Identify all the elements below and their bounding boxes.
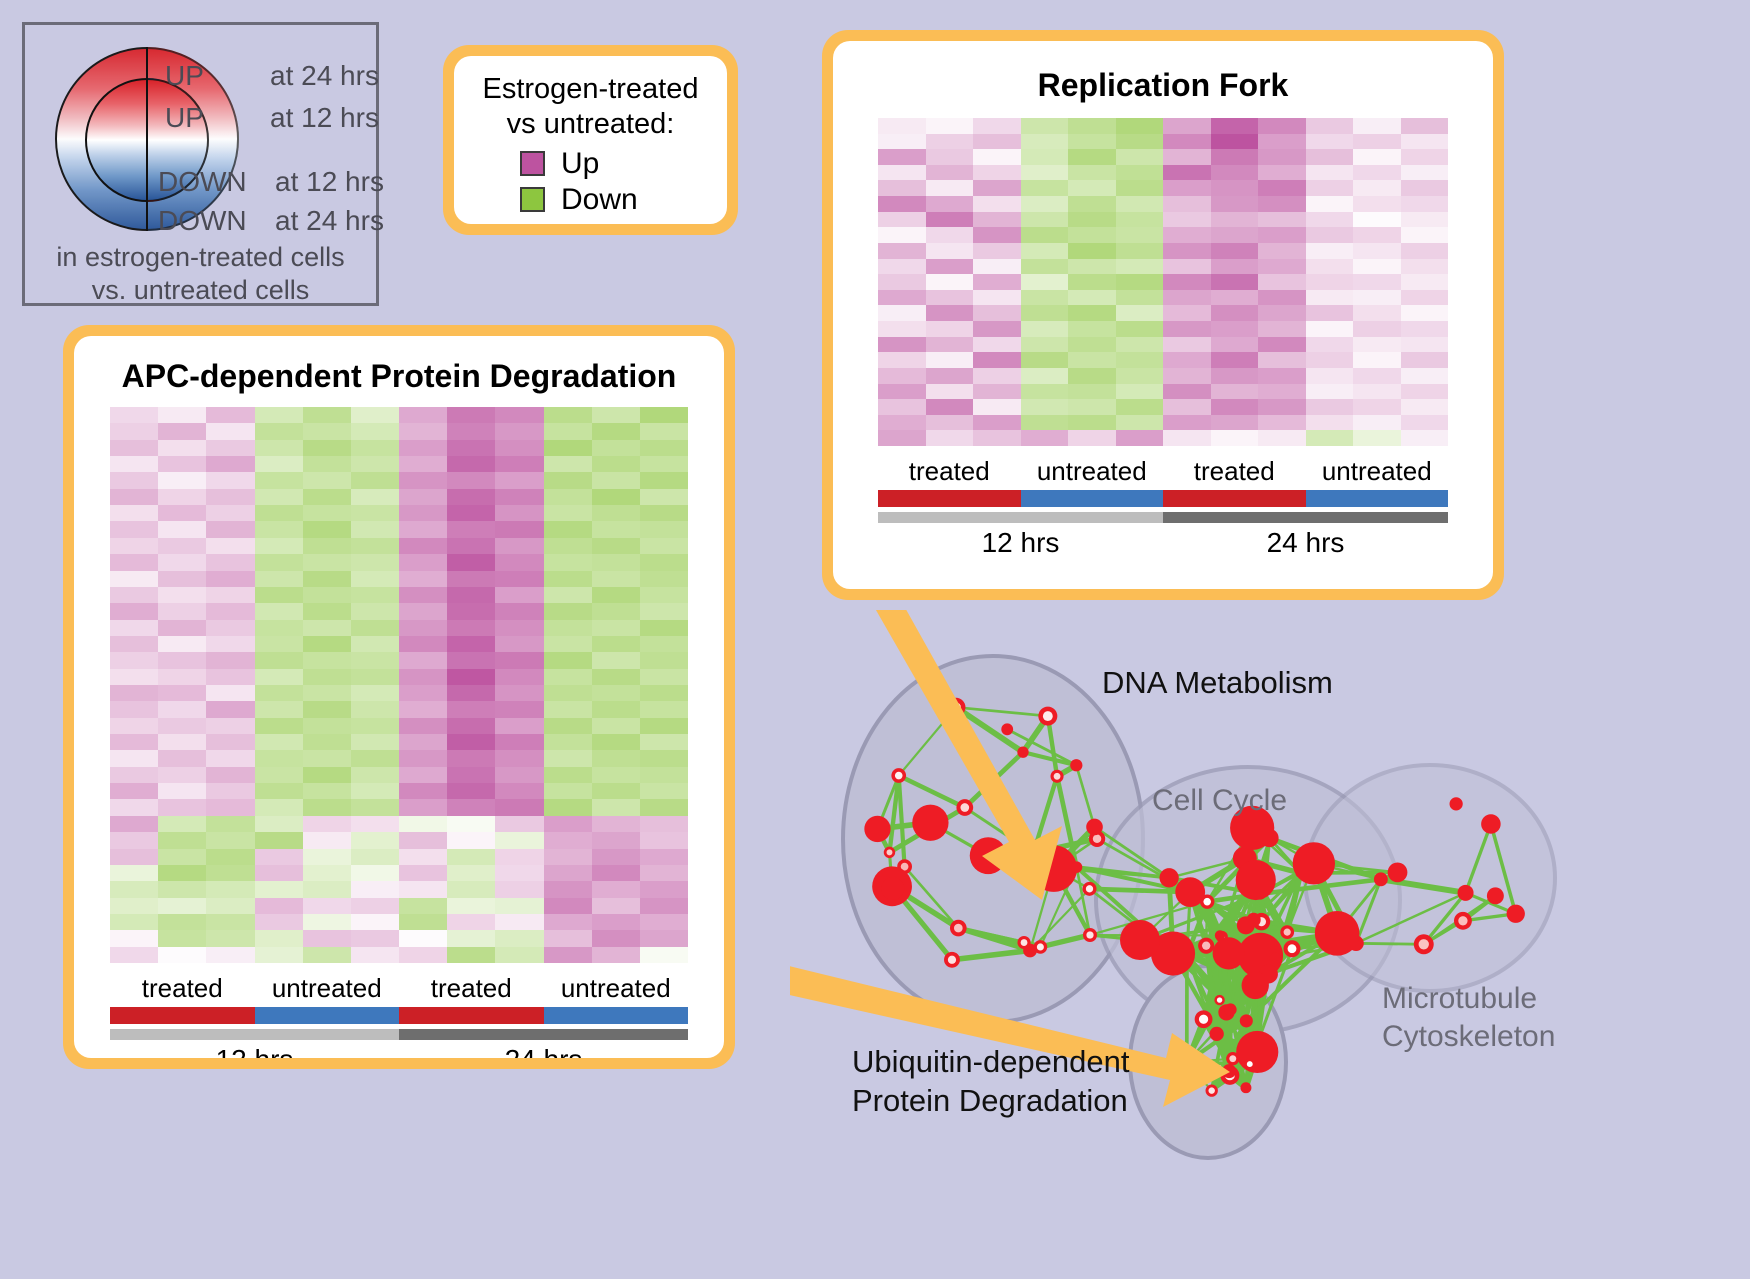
network-node [1082, 882, 1096, 896]
heatmap-cell [640, 440, 688, 456]
heatmap-cell [447, 456, 495, 472]
heatmap-cell [110, 799, 158, 815]
heatmap-cell [1021, 430, 1069, 446]
heatmap-cell [1163, 352, 1211, 368]
heatmap-cell [1068, 149, 1116, 165]
heatmap-cell [1211, 259, 1259, 275]
heatmap-cell [1353, 259, 1401, 275]
heatmap-cell [1258, 305, 1306, 321]
heatmap-cell [544, 701, 592, 717]
heatmap-cell [878, 212, 926, 228]
heatmap-cell [1401, 274, 1449, 290]
heatmap-cell [255, 914, 303, 930]
heatmap-cell [158, 734, 206, 750]
heatmap-cell [926, 227, 974, 243]
heatmap-cell [973, 227, 1021, 243]
heatmap-cell [1211, 196, 1259, 212]
heatmap-cell [1258, 274, 1306, 290]
legend-card: Estrogen-treated vs untreated: Up Down [443, 45, 738, 235]
heatmap-cell [1258, 118, 1306, 134]
heatmap-cell [1353, 368, 1401, 384]
heatmap-cell [206, 554, 254, 570]
network-node [1210, 1027, 1224, 1041]
heatmap-cell [926, 118, 974, 134]
network-node [1388, 862, 1408, 882]
heatmap-cell [1116, 415, 1164, 431]
heatmap-cell [1401, 196, 1449, 212]
heatmap-cell [640, 881, 688, 897]
heatmap-cell [206, 603, 254, 619]
heatmap-cell [495, 718, 543, 734]
heatmap-cell [544, 489, 592, 505]
heatmap-cell [1401, 118, 1449, 134]
heatmap-cell [447, 718, 495, 734]
heatmap-cell [399, 554, 447, 570]
network-node [944, 952, 960, 968]
network-node [1226, 1052, 1239, 1065]
heatmap-cell [447, 930, 495, 946]
heatmap-cell [544, 881, 592, 897]
heatmap-cell [544, 849, 592, 865]
heatmap-cell [206, 521, 254, 537]
heatmap-cell [255, 587, 303, 603]
heatmap-cell [158, 652, 206, 668]
heatmap-cell [206, 456, 254, 472]
heatmap-cell [544, 832, 592, 848]
heatmap-cell [399, 914, 447, 930]
heatmap-cell [1211, 212, 1259, 228]
heatmap-cell [399, 881, 447, 897]
heatmap-cell [544, 603, 592, 619]
heatmap-cell [110, 521, 158, 537]
heatmap-cell [447, 472, 495, 488]
heatmap-cell [1401, 305, 1449, 321]
heatmap-cell [447, 636, 495, 652]
heatmap-cell [158, 750, 206, 766]
heatmap-cell [303, 718, 351, 734]
heatmap-cell [399, 701, 447, 717]
heatmap-cell [495, 816, 543, 832]
heatmap-cell [1211, 290, 1259, 306]
apc-degradation-title: APC-dependent Protein Degradation [74, 336, 724, 395]
heatmap-cell [640, 669, 688, 685]
heatmap-cell [110, 816, 158, 832]
heatmap-cell [1116, 368, 1164, 384]
heatmap-cell [1021, 243, 1069, 259]
heatmap-cell [544, 407, 592, 423]
heatmap-cell [1163, 399, 1211, 415]
network-node [1195, 1010, 1213, 1028]
heatmap-cell [206, 898, 254, 914]
heatmap-cell [640, 472, 688, 488]
heatmap-cell [447, 505, 495, 521]
heatmap-cell [1258, 384, 1306, 400]
heatmap-cell [255, 636, 303, 652]
heatmap-cell [1401, 368, 1449, 384]
heatmap-cell [303, 816, 351, 832]
heatmap-cell [447, 571, 495, 587]
heatmap-cell [206, 865, 254, 881]
heatmap-cell [878, 274, 926, 290]
heatmap-cell [447, 489, 495, 505]
heatmap-cell [878, 196, 926, 212]
heatmap-cell [206, 930, 254, 946]
heatmap-cell [303, 489, 351, 505]
heatmap-cell [973, 305, 1021, 321]
heatmap-cell [1021, 368, 1069, 384]
heatmap-cell [303, 603, 351, 619]
network-node [1240, 1082, 1251, 1093]
heatmap-cell [973, 415, 1021, 431]
heatmap-cell [110, 849, 158, 865]
heatmap-cell [255, 750, 303, 766]
color-key-caption-line1: in estrogen-treated cells [25, 241, 376, 274]
heatmap-cell [206, 620, 254, 636]
heatmap-cell [399, 832, 447, 848]
heatmap-cell [973, 118, 1021, 134]
rf-bar-treated-24 [1163, 490, 1306, 507]
heatmap-cell [110, 750, 158, 766]
heatmap-cell [1068, 337, 1116, 353]
heatmap-cell [926, 274, 974, 290]
heatmap-cell [158, 865, 206, 881]
heatmap-cell [1163, 337, 1211, 353]
heatmap-cell [206, 472, 254, 488]
heatmap-cell [878, 134, 926, 150]
heatmap-cell [640, 799, 688, 815]
heatmap-cell [110, 898, 158, 914]
replication-fork-heatmap [878, 118, 1448, 446]
heatmap-cell [592, 456, 640, 472]
heatmap-cell [1021, 274, 1069, 290]
heatmap-cell [1401, 212, 1449, 228]
replication-fork-condition-labels: treated untreated treated untreated [878, 456, 1448, 487]
heatmap-cell [303, 636, 351, 652]
heatmap-cell [399, 783, 447, 799]
heatmap-cell [303, 832, 351, 848]
heatmap-cell [303, 898, 351, 914]
heatmap-cell [1021, 196, 1069, 212]
heatmap-cell [1163, 259, 1211, 275]
heatmap-cell [255, 669, 303, 685]
heatmap-cell [399, 750, 447, 766]
heatmap-cell [351, 620, 399, 636]
heatmap-cell [110, 734, 158, 750]
heatmap-cell [206, 849, 254, 865]
heatmap-cell [495, 489, 543, 505]
heatmap-cell [1068, 243, 1116, 259]
heatmap-cell [640, 538, 688, 554]
heatmap-cell [878, 290, 926, 306]
heatmap-cell [255, 554, 303, 570]
heatmap-cell [1401, 165, 1449, 181]
heatmap-cell [1068, 352, 1116, 368]
heatmap-cell [351, 456, 399, 472]
heatmap-cell [399, 440, 447, 456]
heatmap-cell [206, 767, 254, 783]
heatmap-cell [592, 652, 640, 668]
heatmap-cell [351, 554, 399, 570]
heatmap-cell [110, 423, 158, 439]
heatmap-cell [110, 620, 158, 636]
heatmap-cell [1258, 352, 1306, 368]
heatmap-cell [878, 337, 926, 353]
heatmap-cell [206, 652, 254, 668]
heatmap-cell [1353, 305, 1401, 321]
heatmap-cell [1353, 274, 1401, 290]
heatmap-cell [1401, 337, 1449, 353]
network-node [1120, 920, 1160, 960]
heatmap-cell [1306, 212, 1354, 228]
heatmap-cell [544, 505, 592, 521]
apc-condition-bar [110, 1007, 688, 1024]
heatmap-cell [495, 620, 543, 636]
heatmap-cell [973, 430, 1021, 446]
heatmap-cell [1116, 399, 1164, 415]
heatmap-cell [206, 832, 254, 848]
heatmap-cell [158, 783, 206, 799]
heatmap-cell [303, 865, 351, 881]
heatmap-cell [158, 898, 206, 914]
key-row-0-time: at 24 hrs [270, 60, 379, 92]
heatmap-cell [206, 571, 254, 587]
heatmap-cell [1401, 134, 1449, 150]
heatmap-cell [495, 701, 543, 717]
heatmap-cell [447, 685, 495, 701]
heatmap-cell [1211, 134, 1259, 150]
heatmap-cell [110, 832, 158, 848]
heatmap-cell [640, 407, 688, 423]
heatmap-cell [447, 849, 495, 865]
heatmap-cell [303, 914, 351, 930]
heatmap-cell [206, 816, 254, 832]
apc-cond-1: untreated [255, 973, 400, 1004]
heatmap-cell [255, 734, 303, 750]
network-node [1224, 1003, 1236, 1015]
heatmap-cell [255, 456, 303, 472]
heatmap-cell [1401, 227, 1449, 243]
heatmap-cell [1306, 337, 1354, 353]
protein-interaction-network [790, 610, 1750, 1279]
heatmap-cell [878, 430, 926, 446]
heatmap-cell [544, 734, 592, 750]
heatmap-cell [1258, 212, 1306, 228]
heatmap-cell [544, 816, 592, 832]
heatmap-cell [1353, 180, 1401, 196]
heatmap-cell [1353, 415, 1401, 431]
heatmap-cell [495, 554, 543, 570]
heatmap-cell [1021, 321, 1069, 337]
heatmap-cell [592, 767, 640, 783]
heatmap-cell [1068, 180, 1116, 196]
heatmap-cell [399, 521, 447, 537]
heatmap-cell [1306, 259, 1354, 275]
heatmap-cell [544, 456, 592, 472]
heatmap-cell [1068, 274, 1116, 290]
heatmap-cell [1401, 321, 1449, 337]
heatmap-cell [110, 554, 158, 570]
key-row-1-time: at 12 hrs [270, 102, 379, 134]
heatmap-cell [110, 930, 158, 946]
heatmap-cell [447, 701, 495, 717]
heatmap-cell [399, 587, 447, 603]
heatmap-cell [878, 118, 926, 134]
heatmap-cell [1021, 212, 1069, 228]
heatmap-cell [1306, 165, 1354, 181]
heatmap-cell [399, 505, 447, 521]
heatmap-cell [1401, 290, 1449, 306]
heatmap-cell [592, 505, 640, 521]
heatmap-cell [1353, 212, 1401, 228]
heatmap-cell [158, 767, 206, 783]
color-key-caption: in estrogen-treated cells vs. untreated … [25, 241, 376, 307]
heatmap-cell [640, 849, 688, 865]
heatmap-cell [544, 636, 592, 652]
ring-divider [146, 47, 148, 231]
heatmap-cell [303, 750, 351, 766]
heatmap-cell [303, 783, 351, 799]
apc-time-bar-12 [110, 1029, 399, 1040]
key-row-1-label: UP [165, 102, 204, 134]
replication-fork-title: Replication Fork [833, 41, 1493, 104]
heatmap-cell [351, 914, 399, 930]
apc-bar-untreated-24 [544, 1007, 689, 1024]
heatmap-cell [255, 620, 303, 636]
rf-bar-untreated-12 [1021, 490, 1164, 507]
network-node [1206, 1084, 1218, 1096]
color-key-caption-line2: vs. untreated cells [25, 274, 376, 307]
network-node [912, 805, 948, 841]
heatmap-cell [1211, 165, 1259, 181]
heatmap-cell [110, 701, 158, 717]
heatmap-cell [399, 603, 447, 619]
heatmap-cell [926, 180, 974, 196]
heatmap-cell [878, 384, 926, 400]
heatmap-cell [1068, 165, 1116, 181]
heatmap-cell [544, 571, 592, 587]
heatmap-cell [592, 620, 640, 636]
heatmap-cell [399, 652, 447, 668]
heatmap-cell [1306, 149, 1354, 165]
heatmap-cell [1021, 134, 1069, 150]
heatmap-cell [399, 816, 447, 832]
cluster-label-ubiquitin-degradation: Ubiquitin-dependent Protein Degradation [852, 1043, 1130, 1121]
heatmap-cell [1211, 368, 1259, 384]
network-node [884, 847, 895, 858]
network-node [1086, 819, 1103, 836]
heatmap-cell [640, 783, 688, 799]
heatmap-cell [592, 554, 640, 570]
heatmap-cell [1116, 290, 1164, 306]
heatmap-cell [926, 399, 974, 415]
heatmap-cell [973, 180, 1021, 196]
heatmap-cell [206, 685, 254, 701]
heatmap-cell [158, 669, 206, 685]
rf-cond-0: treated [878, 456, 1021, 487]
apc-time-labels: 12 hrs 24 hrs [110, 1044, 688, 1058]
heatmap-cell [1163, 290, 1211, 306]
network-node [1293, 842, 1335, 884]
heatmap-cell [926, 430, 974, 446]
heatmap-cell [447, 865, 495, 881]
network-node [1454, 912, 1472, 930]
heatmap-cell [399, 636, 447, 652]
heatmap-cell [1021, 305, 1069, 321]
heatmap-cell [592, 538, 640, 554]
heatmap-cell [158, 849, 206, 865]
heatmap-cell [255, 505, 303, 521]
legend-swatch-down [520, 187, 545, 212]
heatmap-cell [1021, 290, 1069, 306]
network-edge [1089, 889, 1190, 892]
heatmap-cell [447, 652, 495, 668]
heatmap-cell [926, 415, 974, 431]
heatmap-cell [1021, 415, 1069, 431]
legend-item-up: Up [454, 146, 727, 182]
heatmap-cell [544, 685, 592, 701]
legend-title-line1: Estrogen-treated [464, 72, 717, 107]
heatmap-cell [110, 407, 158, 423]
heatmap-cell [495, 440, 543, 456]
heatmap-cell [1211, 337, 1259, 353]
heatmap-cell [495, 849, 543, 865]
heatmap-cell [495, 423, 543, 439]
heatmap-cell [544, 783, 592, 799]
heatmap-cell [973, 165, 1021, 181]
rf-cond-2: treated [1163, 456, 1306, 487]
heatmap-cell [1021, 352, 1069, 368]
heatmap-cell [1163, 368, 1211, 384]
heatmap-cell [399, 767, 447, 783]
heatmap-cell [255, 816, 303, 832]
heatmap-cell [1068, 212, 1116, 228]
heatmap-cell [158, 440, 206, 456]
heatmap-cell [206, 636, 254, 652]
heatmap-cell [447, 734, 495, 750]
heatmap-cell [399, 685, 447, 701]
heatmap-cell [1068, 290, 1116, 306]
heatmap-cell [495, 947, 543, 963]
heatmap-cell [206, 423, 254, 439]
heatmap-cell [878, 165, 926, 181]
heatmap-cell [303, 652, 351, 668]
key-row-3-label: DOWN [158, 205, 247, 237]
heatmap-cell [495, 799, 543, 815]
heatmap-cell [110, 440, 158, 456]
heatmap-cell [592, 440, 640, 456]
heatmap-cell [206, 799, 254, 815]
heatmap-cell [447, 538, 495, 554]
heatmap-cell [351, 783, 399, 799]
heatmap-cell [1353, 321, 1401, 337]
heatmap-cell [1258, 337, 1306, 353]
heatmap-cell [495, 407, 543, 423]
heatmap-cell [1401, 430, 1449, 446]
heatmap-cell [447, 914, 495, 930]
heatmap-cell [640, 603, 688, 619]
heatmap-cell [973, 368, 1021, 384]
heatmap-cell [399, 620, 447, 636]
rf-cond-1: untreated [1021, 456, 1164, 487]
heatmap-cell [255, 783, 303, 799]
replication-fork-time-bar [878, 512, 1448, 523]
heatmap-cell [1401, 384, 1449, 400]
heatmap-cell [351, 799, 399, 815]
heatmap-cell [351, 407, 399, 423]
heatmap-cell [351, 521, 399, 537]
network-node [1270, 953, 1281, 964]
heatmap-cell [206, 489, 254, 505]
